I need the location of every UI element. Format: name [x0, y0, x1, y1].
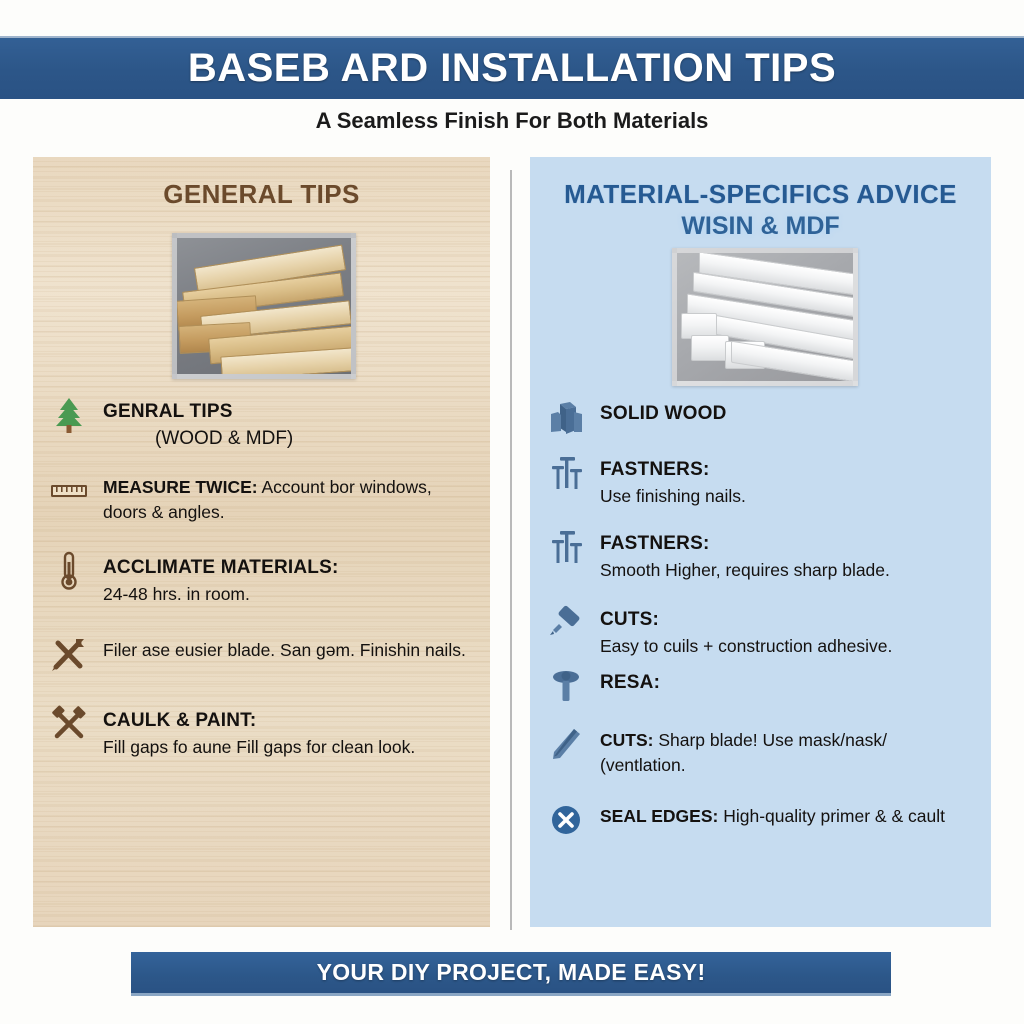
list-item: RESA:	[544, 664, 977, 708]
list-item: FASTNERS: Smooth Higher, requires sharp …	[544, 525, 977, 583]
general-tips-panel: GENERAL TIPS	[33, 157, 490, 927]
list-item-text: SEAL EDGES: High-quality primer & & caul…	[600, 798, 977, 829]
footer-banner: YOUR DIY PROJECT, MADE EASY!	[131, 952, 891, 996]
list-item: SOLID WOOD	[544, 395, 977, 439]
list-item-text: Filer ase eusier blade. San gəm. Finishi…	[103, 632, 474, 663]
list-item-text: SOLID WOOD	[600, 395, 977, 428]
list-item-title: RESA:	[600, 672, 660, 693]
infographic-page: BASEB ARD INSTALLATION TIPS A Seamless F…	[0, 0, 1024, 1024]
left-panel-heading: GENERAL TIPS	[33, 157, 490, 210]
nails-icon	[544, 525, 588, 569]
list-item: SEAL EDGES: High-quality primer & & caul…	[544, 798, 977, 842]
list-item-title: ACCLIMATE MATERIALS:	[103, 557, 339, 578]
ruler-icon	[47, 469, 91, 513]
list-item-text: FASTNERS: Smooth Higher, requires sharp …	[600, 525, 977, 583]
list-item-title: MEASURE TWICE:	[103, 477, 258, 497]
list-item-subtitle: (WOOD & MDF)	[103, 426, 474, 453]
list-item-text: ACCLIMATE MATERIALS: 24-48 hrs. in room.	[103, 549, 474, 607]
list-item: CUTS: Sharp blade! Use mask/nask/ (ventl…	[544, 722, 977, 778]
panel-divider	[510, 170, 512, 930]
left-tips-list: GENRAL TIPS (WOOD & MDF)	[33, 393, 490, 760]
list-item-text: RESA:	[600, 664, 977, 697]
list-item-title: GENRAL TIPS	[103, 401, 233, 422]
list-item-text: GENRAL TIPS (WOOD & MDF)	[103, 393, 474, 453]
footer-text: YOUR DIY PROJECT, MADE EASY!	[317, 959, 706, 986]
crossed-tools-icon	[47, 632, 91, 676]
caulk-gun-icon	[544, 601, 588, 645]
nail-head-icon	[544, 664, 588, 708]
list-item-body: High-quality primer & & cault	[723, 806, 945, 826]
mdf-moulding-photo	[672, 248, 858, 386]
list-item-body: Easy to cuils + construction adhesive.	[600, 636, 892, 656]
pine-tree-icon	[47, 393, 91, 437]
list-item: FASTNERS: Use finishing nails.	[544, 451, 977, 509]
list-item-body: Filer ase eusier blade. San gəm. Finishi…	[103, 640, 466, 660]
right-panel-subheading: WISIN & MDF	[530, 212, 991, 241]
list-item: GENRAL TIPS (WOOD & MDF)	[47, 393, 474, 453]
list-item-body: Use finishing nails.	[600, 486, 746, 506]
page-title: BASEB ARD INSTALLATION TIPS	[188, 46, 836, 91]
list-item-text: MEASURE TWICE: Account bor windows, door…	[103, 469, 474, 525]
stacked-lumber-photo	[172, 233, 356, 379]
list-item-body: Smooth Higher, requires sharp blade.	[600, 560, 890, 580]
list-item: Filer ase eusier blade. San gəm. Finishi…	[47, 632, 474, 676]
wood-blocks-icon	[544, 395, 588, 439]
list-item-text: CAULK & PAINT: Fill gaps fo aune Fill ga…	[103, 702, 474, 760]
page-subtitle: A Seamless Finish For Both Materials	[0, 108, 1024, 134]
list-item-title: CUTS:	[600, 609, 659, 630]
list-item: MEASURE TWICE: Account bor windows, door…	[47, 469, 474, 525]
header-banner: BASEB ARD INSTALLATION TIPS	[0, 36, 1024, 99]
list-item-title: FASTNERS:	[600, 533, 709, 554]
list-item-title: FASTNERS:	[600, 459, 709, 480]
list-item-title: SEAL EDGES:	[600, 806, 718, 826]
list-item-body: Fill gaps fo aune Fill gaps for clean lo…	[103, 737, 415, 757]
thermometer-icon	[47, 549, 91, 593]
list-item-text: FASTNERS: Use finishing nails.	[600, 451, 977, 509]
list-item: CAULK & PAINT: Fill gaps fo aune Fill ga…	[47, 702, 474, 760]
list-item: ACCLIMATE MATERIALS: 24-48 hrs. in room.	[47, 549, 474, 607]
right-tips-list: SOLID WOOD	[530, 395, 991, 842]
list-item-text: CUTS: Easy to cuils + construction adhes…	[600, 601, 977, 659]
material-specific-advice-panel: MATERIAL-SPECIFICS ADVICE WISIN & MDF	[530, 157, 991, 927]
list-item-title: CUTS:	[600, 730, 653, 750]
blade-icon	[544, 722, 588, 766]
list-item-title: SOLID WOOD	[600, 403, 727, 424]
list-item-text: CUTS: Sharp blade! Use mask/nask/ (ventl…	[600, 722, 977, 778]
x-circle-icon	[544, 798, 588, 842]
right-panel-heading: MATERIAL-SPECIFICS ADVICE	[530, 157, 991, 210]
list-item-title: CAULK & PAINT:	[103, 710, 256, 731]
list-item-body: 24-48 hrs. in room.	[103, 584, 250, 604]
list-item: CUTS: Easy to cuils + construction adhes…	[544, 601, 977, 659]
crossed-hammers-icon	[47, 702, 91, 746]
nails-icon	[544, 451, 588, 495]
